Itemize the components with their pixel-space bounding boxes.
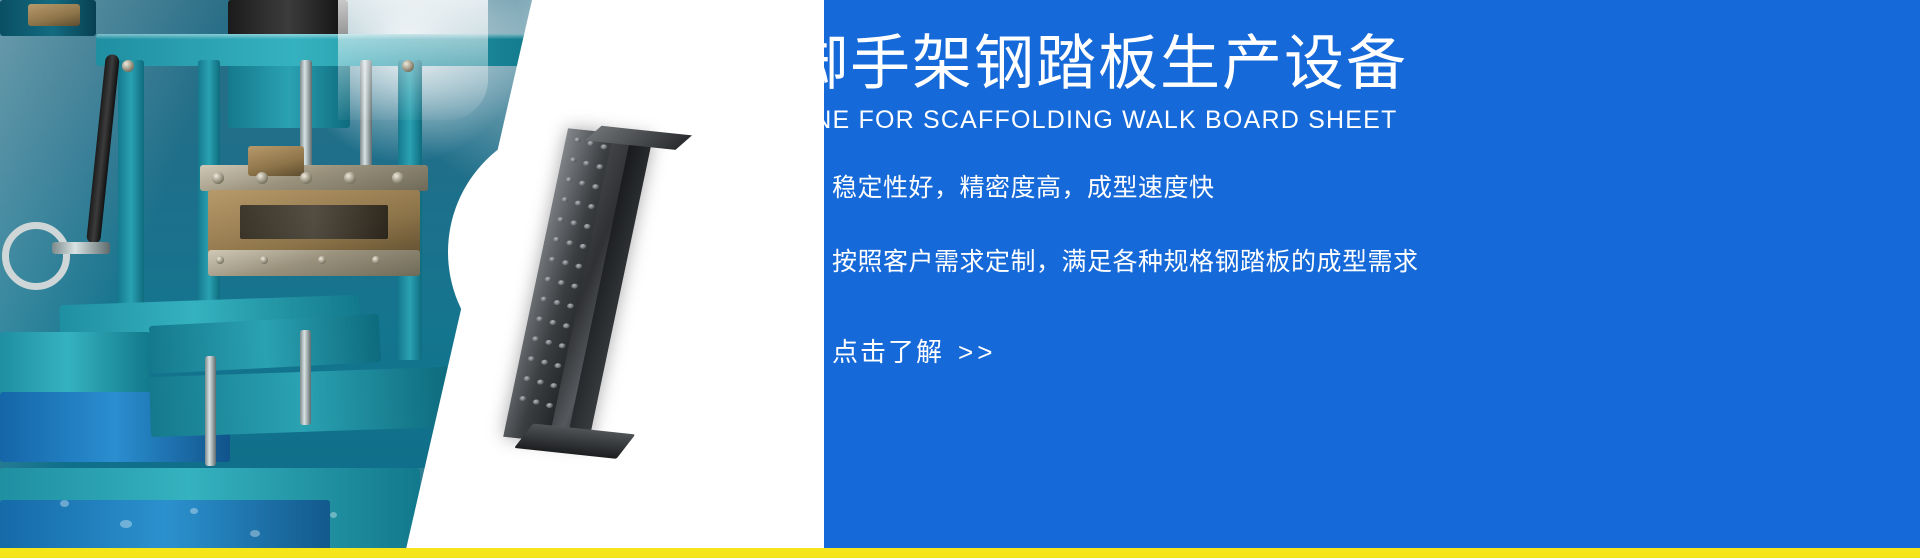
- checkbox-outline-icon: [790, 249, 812, 271]
- bottom-accent-strip: [0, 548, 1920, 558]
- machine-part: [205, 356, 216, 466]
- feature-item-label: 稳定性好，精密度高，成型速度快: [832, 168, 1215, 204]
- bolt-icon: [392, 172, 404, 184]
- product-photo: [505, 132, 685, 442]
- bolt-icon: [256, 172, 268, 184]
- debris: [330, 512, 337, 518]
- machine-handwheel: [2, 222, 70, 290]
- machine-part: [28, 4, 80, 26]
- bolt-icon: [300, 172, 312, 184]
- banner-subtitle: LINE FOR SCAFFOLDING WALK BOARD SHEET: [790, 106, 1397, 135]
- feature-item: 稳定性好，精密度高，成型速度快: [790, 168, 1870, 204]
- bolt-icon: [402, 60, 414, 72]
- machine-part: [300, 330, 311, 425]
- feature-item-label: 按照客户需求定制，满足各种规格钢踏板的成型需求: [832, 242, 1419, 278]
- debris: [250, 530, 260, 537]
- bolt-icon: [212, 172, 224, 184]
- bolt-icon: [344, 172, 356, 184]
- double-chevron-right-icon: >>: [958, 337, 996, 368]
- banner-content: 脚手架钢踏板生产设备 LINE FOR SCAFFOLDING WALK BOA…: [788, 0, 1878, 558]
- learn-more-label: 点击了解: [832, 332, 944, 369]
- machine-part: [240, 205, 388, 239]
- debris: [120, 520, 132, 528]
- debris: [60, 500, 69, 507]
- debris: [190, 508, 198, 514]
- steel-walk-board: [503, 128, 652, 445]
- machine-part: [208, 250, 420, 276]
- learn-more-link[interactable]: 点击了解 >>: [832, 332, 996, 369]
- checkbox-outline-icon: [790, 175, 812, 197]
- machine-part: [248, 146, 304, 176]
- machine-part: [52, 242, 110, 254]
- bolt-icon: [318, 256, 326, 264]
- machine-highlight: [338, 0, 488, 120]
- feature-list: 稳定性好，精密度高，成型速度快 按照客户需求定制，满足各种规格钢踏板的成型需求: [790, 168, 1870, 316]
- bolt-icon: [122, 60, 134, 72]
- banner-title: 脚手架钢踏板生产设备: [788, 32, 1408, 95]
- feature-item: 按照客户需求定制，满足各种规格钢踏板的成型需求: [790, 242, 1870, 278]
- promo-banner: 脚手架钢踏板生产设备 LINE FOR SCAFFOLDING WALK BOA…: [0, 0, 1920, 558]
- bolt-icon: [372, 256, 380, 264]
- bolt-icon: [260, 256, 268, 264]
- bolt-icon: [216, 256, 224, 264]
